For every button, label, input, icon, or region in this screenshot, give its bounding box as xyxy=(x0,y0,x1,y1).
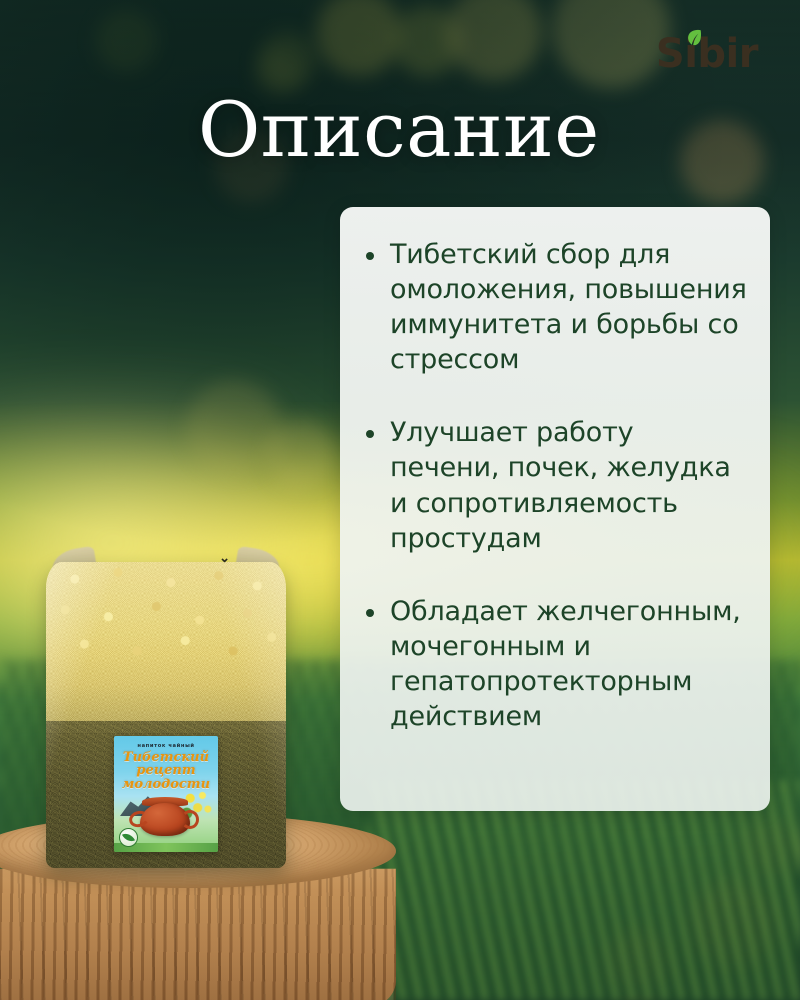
bullet-dot-icon xyxy=(366,609,374,617)
list-item-label: Тибетский сбор для омоложения, повышения… xyxy=(390,237,748,377)
bullet-dot-icon xyxy=(366,430,374,438)
leaf-icon xyxy=(687,29,702,46)
list-item: Улучшает работу печени, почек, желудка и… xyxy=(366,415,748,555)
description-card: Тибетский сбор для омоложения, повышения… xyxy=(340,207,770,811)
product-label: напиток чайный Тибетский рецепт молодост… xyxy=(114,736,218,852)
bullet-dot-icon xyxy=(366,252,374,260)
list-item: Тибетский сбор для омоложения, повышения… xyxy=(366,237,748,377)
brand-logo-text: Sibir xyxy=(656,34,758,74)
product-description-poster: Sibir Описание Тибетский сбор для омолож… xyxy=(0,0,800,1000)
bag-notch-icon: ⌄ xyxy=(219,551,230,564)
herb-bag: ⌄ напиток чайный Тибетский рецепт молодо… xyxy=(46,562,286,868)
brand-logo[interactable]: Sibir xyxy=(656,34,758,74)
benefits-list: Тибетский сбор для омоложения, повышения… xyxy=(366,237,748,734)
list-item-label: Улучшает работу печени, почек, желудка и… xyxy=(390,415,748,555)
page-title: Описание xyxy=(198,92,600,168)
label-kicker: напиток чайный xyxy=(114,743,218,749)
list-item-label: Обладает желчегонным, мочегонным и гепат… xyxy=(390,594,748,734)
teapot-icon xyxy=(140,803,190,836)
eco-badge-icon xyxy=(119,828,138,847)
label-title: Тибетский рецепт молодости xyxy=(117,751,215,791)
eco-badge-leaf-icon xyxy=(122,831,135,845)
list-item: Обладает желчегонным, мочегонным и гепат… xyxy=(366,594,748,734)
